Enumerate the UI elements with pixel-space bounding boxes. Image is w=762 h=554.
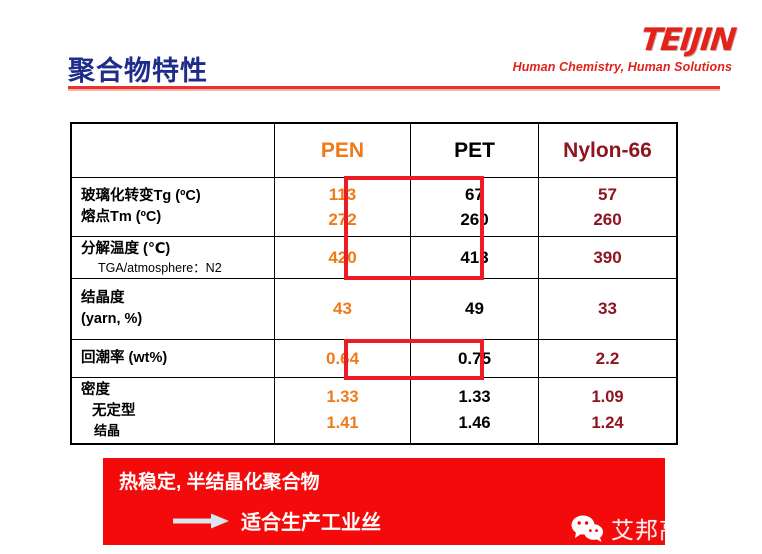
value-nylon-tm: 260	[593, 207, 621, 233]
teijin-tagline: Human Chemistry, Human Solutions	[513, 60, 732, 74]
cell-pen-moisture: 0.64	[275, 340, 411, 377]
watermark-text: 艾邦高分子	[611, 511, 731, 545]
value-pen-density-amorphous: 1.33	[326, 385, 358, 411]
watermark: 艾邦高分子	[571, 511, 731, 545]
value-nylon-tg: 57	[598, 182, 617, 208]
row-label-crystallinity-main: 结晶度	[81, 288, 274, 309]
cell-nylon-moisture: 2.2	[539, 340, 676, 377]
value-nylon-density-amorphous: 1.09	[591, 385, 623, 411]
cell-pen-crystallinity: 43	[275, 279, 411, 339]
value-pet-tg: 67	[465, 182, 484, 208]
header-cell-pen: PEN	[275, 124, 411, 177]
value-pen-tg: 113	[329, 182, 356, 208]
row-label-density: 密度 无定型 结晶	[72, 378, 275, 443]
row-label-density-amorphous: 无定型	[81, 401, 274, 422]
value-nylon-decomposition: 390	[593, 245, 621, 271]
value-pen-tm: 272	[328, 207, 356, 233]
page-title: 聚合物特性	[68, 49, 208, 88]
cell-pet-density: 1.33 1.46	[411, 378, 539, 443]
header-cell-pet: PET	[411, 124, 539, 177]
value-pet-decomposition: 413	[460, 245, 488, 271]
row-label-decomposition-main: 分解温度 (℃)	[81, 239, 274, 260]
table-row-glass-transition-melting: 玻璃化转变Tg (ºC) 熔点Tm (ºC) 113 272 67 260 57…	[72, 177, 676, 236]
value-nylon-density-crystalline: 1.24	[591, 411, 623, 437]
row-label-tg: 玻璃化转变Tg (ºC)	[81, 186, 274, 207]
cell-nylon-tg-tm: 57 260	[539, 178, 676, 236]
banner-conclusion-row: 适合生产工业丝	[173, 506, 381, 535]
row-label-decomposition: 分解温度 (℃) TGA/atmosphere：N2	[72, 237, 275, 278]
row-label-crystallinity-unit: (yarn, %)	[81, 309, 274, 330]
value-nylon-moisture: 2.2	[596, 346, 620, 372]
value-pet-moisture: 0.75	[458, 346, 491, 372]
polymer-properties-table: PEN PET Nylon-66 玻璃化转变Tg (ºC) 熔点Tm (ºC) …	[70, 122, 678, 445]
cell-pen-density: 1.33 1.41	[275, 378, 411, 443]
cell-pet-tg-tm: 67 260	[411, 178, 539, 236]
wechat-icon	[571, 515, 604, 542]
cell-nylon-density: 1.09 1.24	[539, 378, 676, 443]
value-pet-density-crystalline: 1.46	[458, 411, 490, 437]
table-row-decomposition-temperature: 分解温度 (℃) TGA/atmosphere：N2 420 413 390	[72, 236, 676, 278]
title-underline-shadow	[68, 89, 720, 91]
value-pet-density-amorphous: 1.33	[458, 385, 490, 411]
cell-pen-tg-tm: 113 272	[275, 178, 411, 236]
banner-text-primary: 热稳定, 半结晶化聚合物	[119, 467, 320, 494]
table-row-density: 密度 无定型 结晶 1.33 1.41 1.33 1.46 1.09 1.24	[72, 377, 676, 443]
value-nylon-crystallinity: 33	[598, 296, 617, 322]
row-label-crystallinity: 结晶度 (yarn, %)	[72, 279, 275, 339]
value-pen-decomposition: 420	[328, 245, 356, 271]
row-label-tm: 熔点Tm (ºC)	[81, 207, 274, 228]
row-label-moisture-regain: 回潮率 (wt%)	[72, 340, 275, 377]
table-header-row: PEN PET Nylon-66	[72, 124, 676, 177]
row-label-decomposition-sub: TGA/atmosphere：N2	[81, 260, 274, 276]
value-pen-moisture: 0.64	[326, 346, 359, 372]
cell-nylon-crystallinity: 33	[539, 279, 676, 339]
cell-pen-decomposition: 420	[275, 237, 411, 278]
row-label-tg-tm: 玻璃化转变Tg (ºC) 熔点Tm (ºC)	[72, 178, 275, 236]
row-label-density-crystalline: 结晶	[81, 422, 274, 441]
row-label-density-main: 密度	[81, 380, 274, 401]
table-row-crystallinity: 结晶度 (yarn, %) 43 49 33	[72, 278, 676, 339]
cell-pet-crystallinity: 49	[411, 279, 539, 339]
cell-nylon-decomposition: 390	[539, 237, 676, 278]
value-pet-crystallinity: 49	[465, 296, 484, 322]
teijin-logo: TEIJIN	[639, 22, 737, 58]
cell-pet-decomposition: 413	[411, 237, 539, 278]
value-pet-tm: 260	[460, 207, 488, 233]
value-pen-density-crystalline: 1.41	[326, 411, 358, 437]
header-cell-nylon66: Nylon-66	[539, 124, 676, 177]
value-pen-crystallinity: 43	[333, 296, 352, 322]
table-row-moisture-regain: 回潮率 (wt%) 0.64 0.75 2.2	[72, 339, 676, 377]
arrow-right-icon	[173, 513, 229, 529]
row-label-moisture-main: 回潮率 (wt%)	[81, 348, 274, 369]
header-cell-blank	[72, 124, 275, 177]
banner-text-secondary: 适合生产工业丝	[241, 506, 381, 535]
cell-pet-moisture: 0.75	[411, 340, 539, 377]
